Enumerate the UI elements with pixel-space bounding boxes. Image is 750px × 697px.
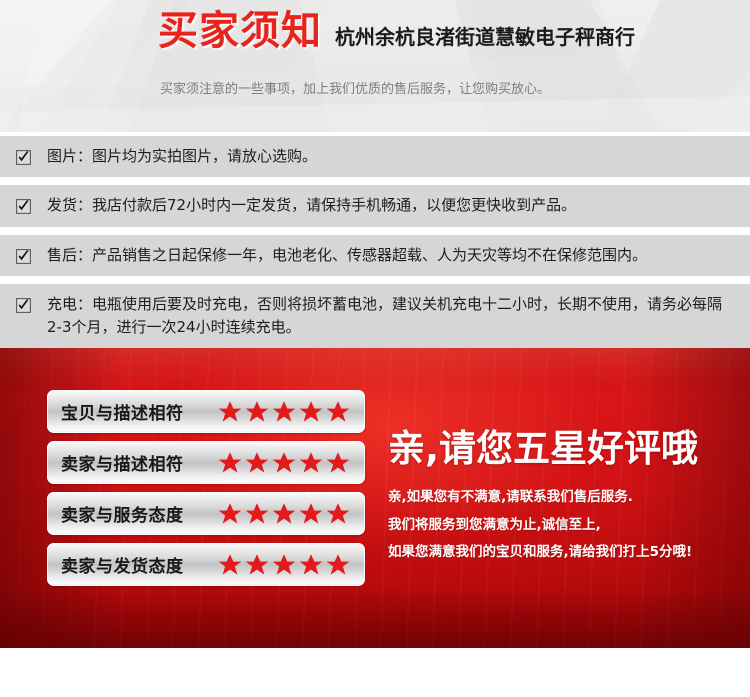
- header-description: 买家须注意的一些事项，加上我们优质的售后服务，让您购买放心。: [160, 79, 560, 100]
- checkbox-checked-icon: [16, 150, 31, 165]
- rating-bar: 宝贝与描述相符: [47, 390, 365, 433]
- review-headline: 亲,请您五星好评哦: [388, 430, 744, 467]
- five-star-review-section: 宝贝与描述相符 卖家与描述相符: [0, 348, 750, 648]
- star-filled-icon: [244, 501, 270, 527]
- star-filled-icon: [325, 552, 351, 578]
- rating-stars: [184, 552, 354, 578]
- star-filled-icon: [325, 399, 351, 425]
- notice-text: 图片：图片均为实拍图片，请放心选购。: [47, 145, 317, 168]
- notice-row: 发货：我店付款后72小时内一定发货，请保持手机畅通，以便您更快收到产品。: [0, 185, 750, 226]
- star-filled-icon: [271, 399, 297, 425]
- notice-row: 售后：产品销售之日起保修一年，电池老化、传感器超载、人为天灾等均不在保修范围内。: [0, 235, 750, 276]
- header-section: 买家须知 杭州余杭良渚街道慧敏电子秤商行 买家须注意的一些事项，加上我们优质的售…: [0, 0, 750, 132]
- rating-stars: [184, 501, 354, 527]
- star-filled-icon: [271, 501, 297, 527]
- review-detail-lines: 亲,如果您有不满意,请联系我们售后服务. 我们将服务到您满意为止,诚信至上, 如…: [388, 491, 744, 560]
- checkbox-checked-icon: [16, 249, 31, 264]
- star-filled-icon: [271, 450, 297, 476]
- star-filled-icon: [244, 399, 270, 425]
- rating-bar-list: 宝贝与描述相符 卖家与描述相符: [47, 390, 365, 586]
- rating-label: 宝贝与描述相符: [61, 399, 184, 424]
- checkbox-checked-icon: [16, 298, 31, 313]
- page-title: 买家须知: [158, 11, 322, 51]
- star-filled-icon: [244, 552, 270, 578]
- star-filled-icon: [271, 552, 297, 578]
- star-filled-icon: [217, 552, 243, 578]
- rating-label: 卖家与描述相符: [61, 450, 184, 475]
- review-detail-line: 亲,如果您有不满意,请联系我们售后服务.: [388, 491, 744, 505]
- notice-text: 售后：产品销售之日起保修一年，电池老化、传感器超载、人为天灾等均不在保修范围内。: [47, 244, 647, 267]
- notice-text: 发货：我店付款后72小时内一定发货，请保持手机畅通，以便您更快收到产品。: [47, 194, 576, 217]
- rating-bar: 卖家与服务态度: [47, 492, 365, 535]
- rating-stars: [184, 450, 354, 476]
- star-filled-icon: [244, 450, 270, 476]
- promo-banner-page: 买家须知 杭州余杭良渚街道慧敏电子秤商行 买家须注意的一些事项，加上我们优质的售…: [0, 0, 750, 697]
- header-content: 买家须知 杭州余杭良渚街道慧敏电子秤商行 买家须注意的一些事项，加上我们优质的售…: [0, 0, 750, 132]
- rating-label: 卖家与发货态度: [61, 552, 184, 577]
- star-filled-icon: [298, 501, 324, 527]
- rating-stars: [184, 399, 354, 425]
- review-content: 宝贝与描述相符 卖家与描述相符: [0, 348, 750, 648]
- star-filled-icon: [325, 450, 351, 476]
- review-detail-line: 如果您满意我们的宝贝和服务,请给我们打上5分哦!: [388, 546, 744, 560]
- review-detail-line: 我们将服务到您满意为止,诚信至上,: [388, 519, 744, 533]
- review-appeal-block: 亲,请您五星好评哦 亲,如果您有不满意,请联系我们售后服务. 我们将服务到您满意…: [388, 430, 744, 560]
- rating-bar: 卖家与描述相符: [47, 441, 365, 484]
- star-filled-icon: [217, 501, 243, 527]
- notice-list: 图片：图片均为实拍图片，请放心选购。 发货：我店付款后72小时内一定发货，请保持…: [0, 132, 750, 348]
- star-filled-icon: [298, 450, 324, 476]
- header-title-row: 买家须知 杭州余杭良渚街道慧敏电子秤商行: [158, 11, 635, 51]
- star-filled-icon: [217, 450, 243, 476]
- star-filled-icon: [217, 399, 243, 425]
- notice-row: 图片：图片均为实拍图片，请放心选购。: [0, 136, 750, 177]
- notice-row: 充电：电瓶使用后要及时充电，否则将损坏蓄电池，建议关机充电十二小时，长期不使用，…: [0, 284, 750, 349]
- star-filled-icon: [298, 399, 324, 425]
- shop-name: 杭州余杭良渚街道慧敏电子秤商行: [335, 27, 635, 51]
- rating-bar: 卖家与发货态度: [47, 543, 365, 586]
- star-filled-icon: [325, 501, 351, 527]
- checkbox-checked-icon: [16, 199, 31, 214]
- notice-text: 充电：电瓶使用后要及时充电，否则将损坏蓄电池，建议关机充电十二小时，长期不使用，…: [47, 293, 736, 340]
- star-filled-icon: [298, 552, 324, 578]
- rating-label: 卖家与服务态度: [61, 501, 184, 526]
